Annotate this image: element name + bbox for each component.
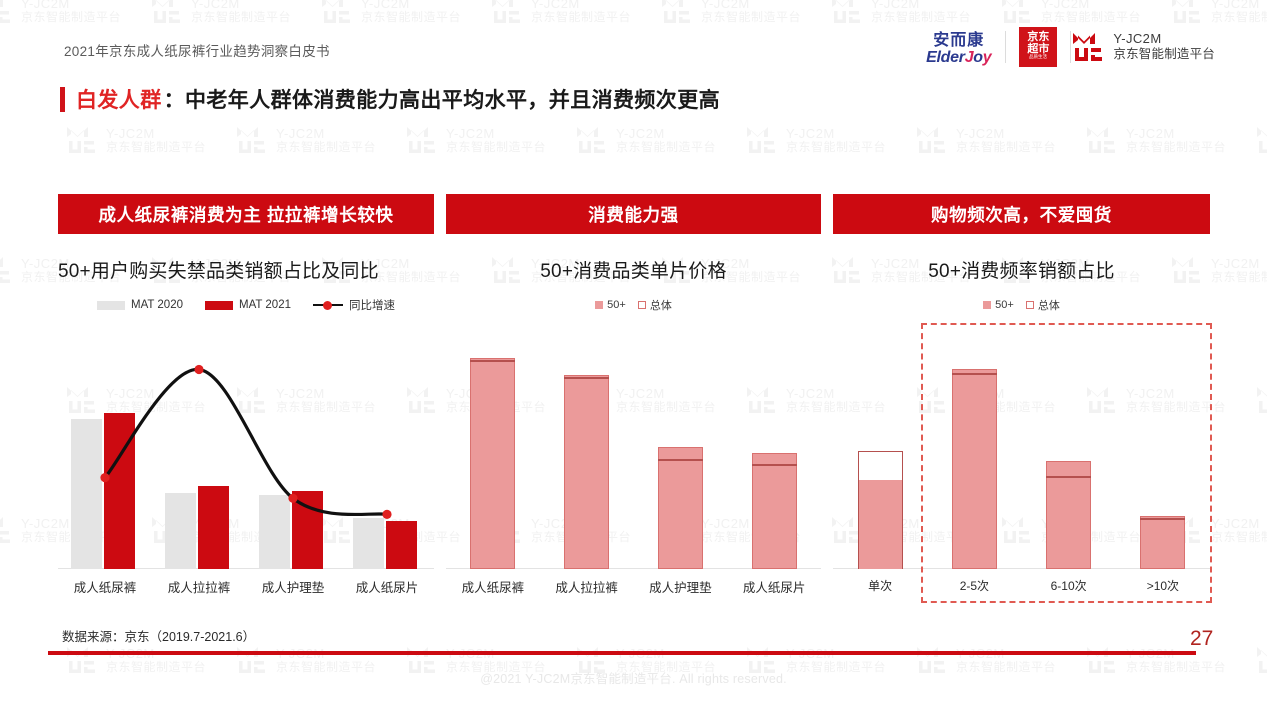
watermark-text: Y-JC2M京东智能制造平台 (1211, 0, 1267, 23)
yjc2m-logo-line1: Y-JC2M (1113, 32, 1215, 47)
watermark-mark-icon (1255, 385, 1267, 415)
category-label: 成人拉拉裤 (168, 577, 231, 596)
watermark-logo: Y-JC2M京东智能制造平台 (150, 0, 291, 25)
logo-row: 安而康 ElderJoy 京东 超市 品质生活 Y-JC2M 京东智能制造平台 (926, 26, 1215, 67)
watermark-logo: Y-JC2M京东智能制造平台 (1170, 0, 1267, 25)
document-title: 2021年京东成人纸尿裤行业趋势洞察白皮书 (64, 40, 330, 60)
watermark-mark-icon (320, 0, 354, 25)
yjc2m-mark-icon (1071, 31, 1105, 63)
panel-2-chart-title: 50+消费频率销额占比 (833, 256, 1210, 283)
legend-swatch-fill-icon (595, 301, 603, 309)
watermark-logo: Y-JC2M京东智能制造平台 (65, 125, 206, 155)
panel-0-banner: 成人纸尿裤消费为主 拉拉裤增长较快 (58, 194, 434, 234)
watermark-mark-icon (405, 125, 439, 155)
legend-item-50plus-1: 50+ (595, 299, 626, 311)
category-label: 成人护理垫 (649, 577, 712, 596)
yjc2m-logo: Y-JC2M 京东智能制造平台 (1071, 31, 1215, 63)
panel-1-banner: 消费能力强 (446, 194, 821, 234)
watermark-mark-icon (915, 125, 949, 155)
legend-item-growth: 同比增速 (313, 297, 395, 313)
growth-rate-point (382, 510, 391, 519)
chart-0-category-labels: 成人纸尿裤成人拉拉裤成人护理垫成人纸尿片 (58, 569, 434, 597)
panel-2-banner: 购物频次高，不爱囤货 (833, 194, 1210, 234)
jd-logo-line3: 品质生活 (1029, 56, 1047, 61)
watermark-logo: Y-JC2M京东智能制造平台 (1255, 125, 1267, 155)
data-source-note: 数据来源：京东（2019.7-2021.6） (62, 626, 255, 645)
watermark-mark-icon (1255, 125, 1267, 155)
legend-label-overall-1: 总体 (650, 297, 672, 313)
legend-swatch-fill-icon-2 (983, 301, 991, 309)
watermark-mark-icon (0, 515, 14, 545)
copyright-note: @2021 Y-JC2M京东智能制造平台. All rights reserve… (0, 668, 1267, 687)
watermark-mark-icon (575, 125, 609, 155)
watermark-mark-icon (1000, 0, 1034, 25)
bar-50plus (658, 447, 703, 569)
watermark-text: Y-JC2M京东智能制造平台 (1211, 517, 1267, 544)
bar-overall-marker (752, 464, 797, 466)
legend-swatch-gray-icon (97, 301, 125, 310)
watermark-logo: Y-JC2M京东智能制造平台 (235, 125, 376, 155)
chart-0-legend: MAT 2020 MAT 2021 同比增速 (58, 297, 434, 313)
growth-rate-point (194, 365, 203, 374)
watermark-logo: Y-JC2M京东智能制造平台 (405, 125, 546, 155)
legend-label-50plus-2: 50+ (995, 299, 1014, 311)
watermark-text: Y-JC2M京东智能制造平台 (701, 0, 801, 23)
watermark-text: Y-JC2M京东智能制造平台 (21, 0, 121, 23)
watermark-text: Y-JC2M京东智能制造平台 (1211, 257, 1267, 284)
watermark-logo: Y-JC2M京东智能制造平台 (1255, 385, 1267, 415)
watermark-mark-icon (0, 0, 14, 25)
watermark-logo: Y-JC2M京东智能制造平台 (830, 0, 971, 25)
chart-2-plot: 单次2-5次6-10次>10次 (833, 333, 1210, 569)
watermark-mark-icon (1085, 125, 1119, 155)
watermark-mark-icon (65, 125, 99, 155)
growth-rate-point (100, 473, 109, 482)
category-label: 成人纸尿裤 (462, 577, 525, 596)
panel-unit-price: 消费能力强 50+消费品类单片价格 50+ 总体 成人纸尿裤成人拉拉裤成人护理垫… (446, 194, 821, 569)
watermark-mark-icon (490, 0, 524, 25)
bar-50plus (859, 480, 902, 569)
chart-1-plot: 成人纸尿裤成人拉拉裤成人护理垫成人纸尿片 (446, 333, 821, 569)
watermark-mark-icon (235, 125, 269, 155)
watermark-text: Y-JC2M京东智能制造平台 (1041, 0, 1141, 23)
highlight-dashed-box (921, 323, 1212, 603)
bar-50plus (752, 453, 797, 569)
watermark-logo: Y-JC2M京东智能制造平台 (915, 125, 1056, 155)
legend-item-overall-2: 总体 (1026, 297, 1060, 313)
growth-rate-point (288, 494, 297, 503)
elderjoy-logo: 安而康 ElderJoy (926, 26, 1005, 67)
legend-label-50plus-1: 50+ (607, 299, 626, 311)
chart-2-legend: 50+ 总体 (833, 297, 1210, 313)
legend-label-overall-2: 总体 (1038, 297, 1060, 313)
panel-0-chart-title: 50+用户购买失禁品类销额占比及同比 (58, 256, 434, 283)
watermark-text: Y-JC2M京东智能制造平台 (276, 127, 376, 154)
chart-0-plot: 成人纸尿裤成人拉拉裤成人护理垫成人纸尿片 (58, 333, 434, 569)
category-label: 成人纸尿片 (356, 577, 419, 596)
watermark-logo: Y-JC2M京东智能制造平台 (320, 0, 461, 25)
watermark-text: Y-JC2M京东智能制造平台 (1126, 127, 1226, 154)
legend-item-mat2020: MAT 2020 (97, 299, 183, 311)
category-label: 成人护理垫 (262, 577, 325, 596)
yjc2m-logo-text: Y-JC2M 京东智能制造平台 (1113, 32, 1215, 61)
category-label: 单次 (868, 577, 892, 594)
legend-line-marker-icon (313, 300, 343, 310)
slide-headline: 白发人群 ：中老年人群体消费能力高出平均水平，并且消费频次更高 (60, 84, 720, 114)
category-label: 成人纸尿裤 (74, 577, 137, 596)
watermark-text: Y-JC2M京东智能制造平台 (191, 0, 291, 23)
panel-purchase-frequency: 购物频次高，不爱囤货 50+消费频率销额占比 50+ 总体 单次2-5次6-10… (833, 194, 1210, 569)
watermark-mark-icon (745, 125, 779, 155)
footer-rule (48, 651, 1196, 655)
legend-label-growth: 同比增速 (349, 297, 395, 313)
category-label: 成人拉拉裤 (555, 577, 618, 596)
legend-swatch-outline-icon-2 (1026, 301, 1034, 309)
bar-overall-marker (658, 459, 703, 461)
elderjoy-logo-en: ElderJoy (926, 49, 991, 67)
category-label: 成人纸尿片 (743, 577, 806, 596)
growth-rate-line (58, 333, 434, 569)
bar-overall-marker (470, 360, 515, 362)
watermark-text: Y-JC2M京东智能制造平台 (361, 0, 461, 23)
headline-highlight: 白发人群 (76, 84, 162, 114)
headline-rest: ：中老年人群体消费能力高出平均水平，并且消费频次更高 (164, 84, 720, 114)
watermark-logo: Y-JC2M京东智能制造平台 (745, 125, 886, 155)
watermark-mark-icon (830, 0, 864, 25)
legend-label-mat2020: MAT 2020 (131, 299, 183, 311)
watermark-text: Y-JC2M京东智能制造平台 (616, 127, 716, 154)
chart-1-category-labels: 成人纸尿裤成人拉拉裤成人护理垫成人纸尿片 (446, 569, 821, 597)
bar-overall-marker (564, 377, 609, 379)
watermark-text: Y-JC2M京东智能制造平台 (871, 0, 971, 23)
watermark-logo: Y-JC2M京东智能制造平台 (490, 0, 631, 25)
watermark-text: Y-JC2M京东智能制造平台 (446, 127, 546, 154)
elderjoy-logo-cn: 安而康 (933, 26, 984, 50)
legend-item-50plus-2: 50+ (983, 299, 1014, 311)
watermark-logo: Y-JC2M京东智能制造平台 (660, 0, 801, 25)
watermark-mark-icon (0, 255, 14, 285)
watermark-mark-icon (150, 0, 184, 25)
panel-adult-diaper-share: 成人纸尿裤消费为主 拉拉裤增长较快 50+用户购买失禁品类销额占比及同比 MAT… (58, 194, 434, 569)
watermark-text: Y-JC2M京东智能制造平台 (106, 127, 206, 154)
watermark-text: Y-JC2M京东智能制造平台 (786, 127, 886, 154)
watermark-text: Y-JC2M京东智能制造平台 (531, 0, 631, 23)
watermark-logo: Y-JC2M京东智能制造平台 (0, 0, 121, 25)
yjc2m-logo-line2: 京东智能制造平台 (1113, 47, 1215, 61)
watermark-mark-icon (660, 0, 694, 25)
panel-1-chart-title: 50+消费品类单片价格 (446, 256, 821, 283)
watermark-logo: Y-JC2M京东智能制造平台 (1000, 0, 1141, 25)
watermark-logo: Y-JC2M京东智能制造平台 (575, 125, 716, 155)
chart-1-legend: 50+ 总体 (446, 297, 821, 313)
watermark-mark-icon (1170, 0, 1204, 25)
logo-divider (1005, 31, 1006, 63)
watermark-text: Y-JC2M京东智能制造平台 (956, 127, 1056, 154)
legend-label-mat2021: MAT 2021 (239, 299, 291, 311)
watermark-logo: Y-JC2M京东智能制造平台 (1085, 125, 1226, 155)
legend-item-overall-1: 总体 (638, 297, 672, 313)
legend-item-mat2021: MAT 2021 (205, 299, 291, 311)
legend-swatch-red-icon (205, 301, 233, 310)
bar-50plus (564, 375, 609, 569)
legend-swatch-outline-icon (638, 301, 646, 309)
page-number: 27 (1190, 627, 1213, 651)
bar-50plus (470, 358, 515, 569)
headline-accent-bar (60, 87, 65, 112)
jd-supermarket-logo: 京东 超市 品质生活 (1019, 27, 1057, 67)
slide-canvas: Y-JC2M京东智能制造平台Y-JC2M京东智能制造平台Y-JC2M京东智能制造… (0, 0, 1267, 713)
